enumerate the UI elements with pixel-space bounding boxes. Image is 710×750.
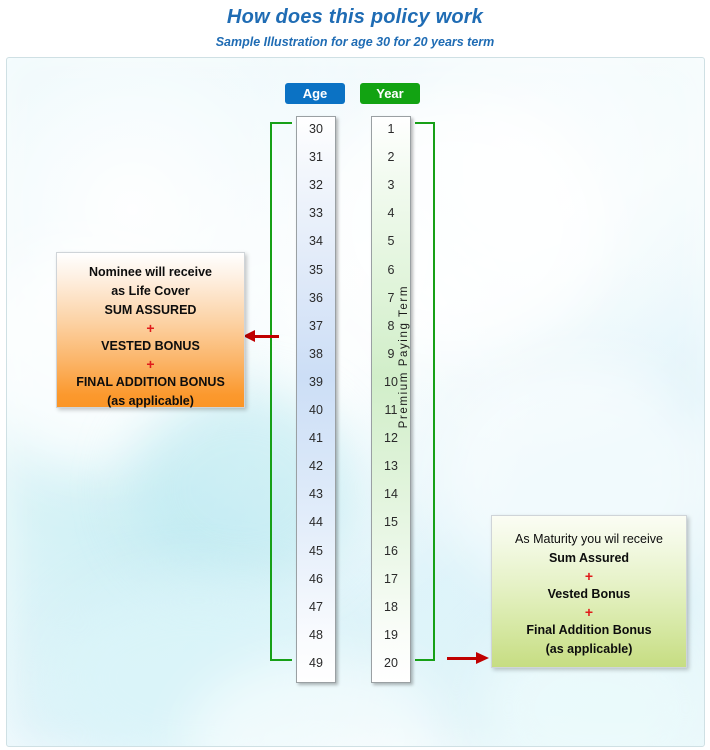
header: How does this policy work Sample Illustr… bbox=[0, 0, 710, 51]
life-cover-bracket-top bbox=[270, 122, 292, 124]
maturity-benefit-applicability-note: (as applicable) bbox=[492, 640, 686, 659]
year-cell: 20 bbox=[372, 654, 410, 672]
age-cell: 37 bbox=[297, 317, 335, 335]
death-benefit-final-addition-bonus: FINAL ADDITION BONUS bbox=[57, 373, 244, 392]
premium-paying-term-label: Premium Paying Term bbox=[398, 105, 410, 285]
age-cell: 35 bbox=[297, 261, 335, 279]
age-cell: 48 bbox=[297, 626, 335, 644]
age-cell: 44 bbox=[297, 513, 335, 531]
death-benefit-vested-bonus: VESTED BONUS bbox=[57, 337, 244, 356]
death-benefit-plus-2: + bbox=[57, 356, 244, 373]
age-cell: 34 bbox=[297, 232, 335, 250]
age-cell: 43 bbox=[297, 485, 335, 503]
arrow-shaft bbox=[252, 335, 279, 338]
death-benefit-plus-1: + bbox=[57, 320, 244, 337]
death-benefit-arrow-icon bbox=[243, 330, 279, 343]
maturity-benefit-final-addition-bonus: Final Addition Bonus bbox=[492, 621, 686, 640]
page-title: How does this policy work bbox=[0, 4, 710, 30]
age-cell: 32 bbox=[297, 176, 335, 194]
age-cell: 49 bbox=[297, 654, 335, 672]
year-cell: 15 bbox=[372, 513, 410, 531]
year-cell: 13 bbox=[372, 457, 410, 475]
premium-term-bracket-top bbox=[415, 122, 435, 124]
page-subtitle: Sample Illustration for age 30 for 20 ye… bbox=[0, 33, 710, 51]
maturity-benefit-line-1: As Maturity you wil receive bbox=[492, 529, 686, 549]
year-cell: 17 bbox=[372, 570, 410, 588]
maturity-benefit-box: As Maturity you wil receive Sum Assured … bbox=[491, 515, 687, 668]
death-benefit-line-2: as Life Cover bbox=[57, 282, 244, 301]
premium-term-bracket-vertical bbox=[433, 122, 435, 661]
maturity-benefit-vested-bonus: Vested Bonus bbox=[492, 585, 686, 604]
year-cell: 16 bbox=[372, 542, 410, 560]
premium-paying-term-text: Premium Paying Term bbox=[398, 285, 410, 428]
year-cell: 14 bbox=[372, 485, 410, 503]
life-cover-bracket-vertical bbox=[270, 122, 272, 661]
background-blob bbox=[307, 98, 607, 358]
age-cell: 36 bbox=[297, 289, 335, 307]
death-benefit-applicability-note: (as applicable) bbox=[57, 392, 244, 411]
life-cover-bracket-bottom bbox=[270, 659, 292, 661]
maturity-benefit-arrow-icon bbox=[447, 652, 489, 665]
age-cell: 42 bbox=[297, 457, 335, 475]
arrow-head-right bbox=[476, 652, 489, 664]
age-column: 3031323334353637383940414243444546474849 bbox=[296, 116, 336, 683]
age-cell: 40 bbox=[297, 401, 335, 419]
year-cell: 12 bbox=[372, 429, 410, 447]
age-cell: 41 bbox=[297, 429, 335, 447]
age-cell: 30 bbox=[297, 120, 335, 138]
maturity-benefit-plus-1: + bbox=[492, 568, 686, 585]
death-benefit-line-1: Nominee will receive bbox=[57, 263, 244, 282]
age-cell: 31 bbox=[297, 148, 335, 166]
arrow-shaft bbox=[447, 657, 477, 660]
age-cell: 38 bbox=[297, 345, 335, 363]
year-column-header: Year bbox=[360, 83, 420, 104]
year-cell: 18 bbox=[372, 598, 410, 616]
year-cell: 19 bbox=[372, 626, 410, 644]
age-column-header: Age bbox=[285, 83, 345, 104]
age-cell: 46 bbox=[297, 570, 335, 588]
age-cell: 33 bbox=[297, 204, 335, 222]
death-benefit-box: Nominee will receive as Life Cover SUM A… bbox=[56, 252, 245, 408]
death-benefit-sum-assured: SUM ASSURED bbox=[57, 301, 244, 320]
age-cell: 45 bbox=[297, 542, 335, 560]
maturity-benefit-sum-assured: Sum Assured bbox=[492, 549, 686, 568]
age-cell: 47 bbox=[297, 598, 335, 616]
maturity-benefit-plus-2: + bbox=[492, 604, 686, 621]
age-cell: 39 bbox=[297, 373, 335, 391]
premium-term-bracket-bottom bbox=[415, 659, 435, 661]
